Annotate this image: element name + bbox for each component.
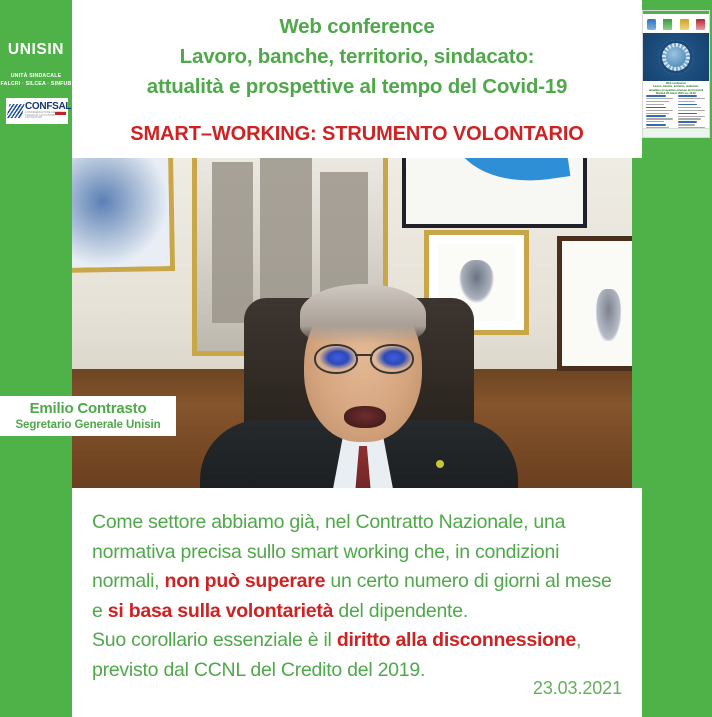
event-flyer-thumbnail: Web conference Lavoro, banche, territori… — [642, 10, 710, 138]
topic-subtitle: SMART–WORKING: STRUMENTO VOLONTARIO — [72, 123, 642, 146]
wall-art-1 — [72, 158, 175, 273]
lapel-pin — [436, 460, 444, 468]
video-feed[interactable] — [72, 158, 632, 488]
eyeglasses-icon — [312, 344, 416, 370]
quote-emphasis: non può superare — [165, 570, 326, 592]
quote-panel: Come settore abbiamo già, nel Contratto … — [72, 488, 642, 717]
quote-emphasis: diritto alla disconnessione — [337, 629, 576, 651]
flyer-hero-image — [643, 33, 709, 81]
flyer-globe-icon — [659, 40, 693, 74]
flyer-logo-icon-3 — [680, 19, 689, 30]
title-line-1: Web conference — [72, 12, 642, 42]
unisin-wordmark: UNISIN — [0, 41, 72, 59]
speaker-nameplate: Emilio Contrasto Segretario Generale Uni… — [0, 396, 176, 436]
title-line-3: attualità e prospettive al tempo del Cov… — [72, 72, 642, 102]
speaker-mouth — [344, 406, 386, 428]
confsal-red-accent — [55, 112, 66, 115]
confsal-tagline-2: SINDACATI AUTONOMI LAVORATORI — [25, 115, 71, 120]
confsal-text: CONFSAL CONFEDERAZIONE GENERALE SINDACAT… — [25, 102, 71, 120]
slide-canvas: Web conference Lavoro, banche, territori… — [0, 0, 712, 717]
speaker-name: Emilio Contrasto — [0, 399, 176, 418]
quote-run: Suo corollario essenziale è il — [92, 629, 337, 651]
flyer-program-columns — [646, 95, 706, 128]
flyer-top-bar — [643, 11, 709, 14]
flyer-program-column-right — [678, 95, 707, 128]
confsal-stripes-icon — [7, 104, 25, 118]
flyer-program-column-left — [646, 95, 675, 128]
wall-art-5 — [557, 236, 632, 371]
flyer-logo-icon-4 — [696, 19, 705, 30]
flyer-logo-icon-2 — [663, 19, 672, 30]
flyer-footer-bar — [643, 128, 709, 137]
header-panel: Web conference Lavoro, banche, territori… — [72, 0, 642, 158]
conference-title: Web conference Lavoro, banche, territori… — [72, 12, 642, 102]
speaker-hair — [300, 284, 426, 344]
flyer-sponsor-logos — [643, 16, 709, 33]
wall-art-3 — [402, 158, 587, 228]
unisin-tagline-2: FALCRI · SILCEA · SINFUB — [0, 81, 72, 87]
quote-run: del dipendente. — [333, 600, 468, 622]
unisin-tagline-1: UNITÀ SINDACALE — [0, 73, 72, 79]
event-date: 23.03.2021 — [533, 678, 622, 699]
unisin-logo-block: UNISIN UNITÀ SINDACALE FALCRI · SILCEA ·… — [0, 13, 72, 125]
flyer-logo-icon-1 — [647, 19, 656, 30]
confsal-logo: CONFSAL CONFEDERAZIONE GENERALE SINDACAT… — [6, 98, 68, 124]
quote-emphasis: si basa sulla volontarietà — [108, 600, 333, 622]
speaker-role: Segretario Generale Unisin — [0, 418, 176, 432]
quote-text: Come settore abbiamo già, nel Contratto … — [92, 508, 624, 685]
title-line-2: Lavoro, banche, territorio, sindacato: — [72, 42, 642, 72]
